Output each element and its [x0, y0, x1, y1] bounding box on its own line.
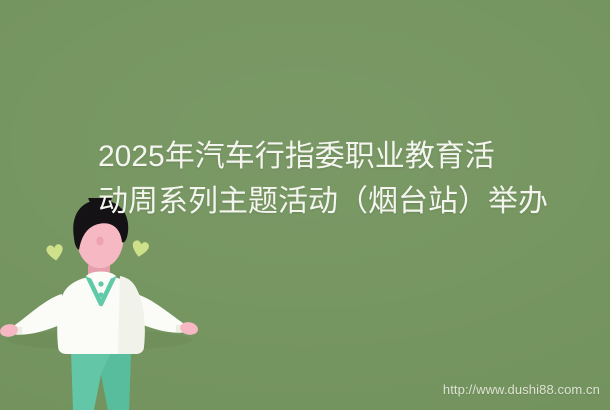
pants	[71, 350, 131, 410]
headline-line-1: 2025年汽车行指委职业教育活	[98, 134, 598, 179]
headline-line-2: 动周系列主题活动（烟台站）举办	[98, 179, 598, 224]
button-upper	[98, 281, 103, 286]
news-thumbnail-banner: 2025年汽车行指委职业教育活 动周系列主题活动（烟台站）举办 http://w…	[0, 0, 610, 410]
headline: 2025年汽车行指委职业教育活 动周系列主题活动（烟台站）举办	[98, 134, 598, 224]
button-lower	[98, 292, 103, 297]
heart-right-icon	[130, 240, 149, 259]
sweater	[57, 276, 145, 354]
nose	[96, 237, 103, 246]
person-illustration	[0, 198, 235, 410]
watermark-url: http://www.dushi88.com.cn	[443, 382, 600, 397]
heart-left-icon	[46, 244, 64, 262]
